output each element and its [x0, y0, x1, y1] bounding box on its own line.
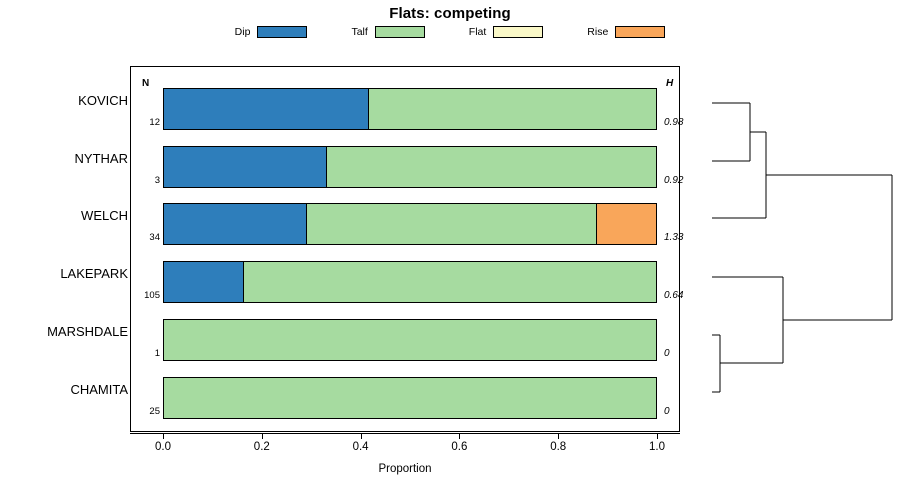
legend-label: Dip: [235, 27, 251, 38]
x-tick-label: 0.4: [353, 441, 369, 453]
chart-canvas: Flats: competing DipTalfFlatRise N H KOV…: [0, 0, 900, 500]
legend-swatch: [493, 26, 543, 38]
stacked-bar[interactable]: [163, 377, 657, 419]
stacked-bar[interactable]: [163, 88, 657, 130]
stacked-bar[interactable]: [163, 319, 657, 361]
row-label-chamita: CHAMITA: [70, 382, 128, 397]
row-h-value: 0.64: [664, 290, 683, 301]
x-tick-label: 0.8: [550, 441, 566, 453]
dendrogram: [690, 0, 900, 500]
row-n-value: 105: [136, 290, 160, 301]
x-tick-label: 0.0: [155, 441, 171, 453]
x-tick-mark: [558, 433, 559, 439]
x-tick-label: 1.0: [649, 441, 665, 453]
bar-segment-talf[interactable]: [368, 89, 656, 129]
legend-label: Talf: [351, 27, 367, 38]
bar-segment-rise[interactable]: [596, 204, 656, 244]
row-h-value: 0.92: [664, 175, 683, 186]
x-axis-title: Proportion: [130, 463, 680, 475]
legend-item-talf[interactable]: Talf: [351, 26, 424, 38]
row-h-value: 0: [664, 348, 670, 359]
legend-item-dip[interactable]: Dip: [235, 26, 308, 38]
bar-segment-dip[interactable]: [164, 262, 243, 302]
legend-swatch: [257, 26, 307, 38]
row-h-value: 0.98: [664, 117, 683, 128]
row-n-value: 25: [136, 406, 160, 417]
legend-item-rise[interactable]: Rise: [587, 26, 665, 38]
stacked-bar[interactable]: [163, 146, 657, 188]
legend-swatch: [615, 26, 665, 38]
stacked-bar[interactable]: [163, 261, 657, 303]
bar-segment-talf[interactable]: [326, 147, 656, 187]
stacked-bar[interactable]: [163, 203, 657, 245]
bar-segment-talf[interactable]: [243, 262, 656, 302]
x-tick-mark: [657, 433, 658, 439]
row-label-welch: WELCH: [81, 208, 128, 223]
legend-label: Flat: [469, 27, 487, 38]
x-tick-mark: [459, 433, 460, 439]
x-tick-label: 0.2: [254, 441, 270, 453]
row-n-value: 12: [136, 117, 160, 128]
row-n-value: 3: [136, 175, 160, 186]
bar-segment-talf[interactable]: [306, 204, 596, 244]
bar-segment-talf[interactable]: [164, 378, 656, 418]
bar-segment-dip[interactable]: [164, 147, 326, 187]
x-tick-label: 0.6: [451, 441, 467, 453]
bar-segment-talf[interactable]: [164, 320, 656, 360]
row-label-kovich: KOVICH: [78, 93, 128, 108]
x-axis-line: [130, 433, 680, 434]
bar-segment-dip[interactable]: [164, 204, 306, 244]
row-label-marshdale: MARSHDALE: [47, 324, 128, 339]
row-h-value: 1.33: [664, 232, 683, 243]
row-h-value: 0: [664, 406, 670, 417]
bar-segment-dip[interactable]: [164, 89, 368, 129]
row-n-value: 1: [136, 348, 160, 359]
legend-swatch: [375, 26, 425, 38]
row-label-nythar: NYTHAR: [75, 151, 128, 166]
x-tick-mark: [262, 433, 263, 439]
row-n-value: 34: [136, 232, 160, 243]
x-tick-mark: [163, 433, 164, 439]
x-tick-mark: [361, 433, 362, 439]
legend-item-flat[interactable]: Flat: [469, 26, 544, 38]
legend-label: Rise: [587, 27, 608, 38]
row-label-lakepark: LAKEPARK: [60, 266, 128, 281]
